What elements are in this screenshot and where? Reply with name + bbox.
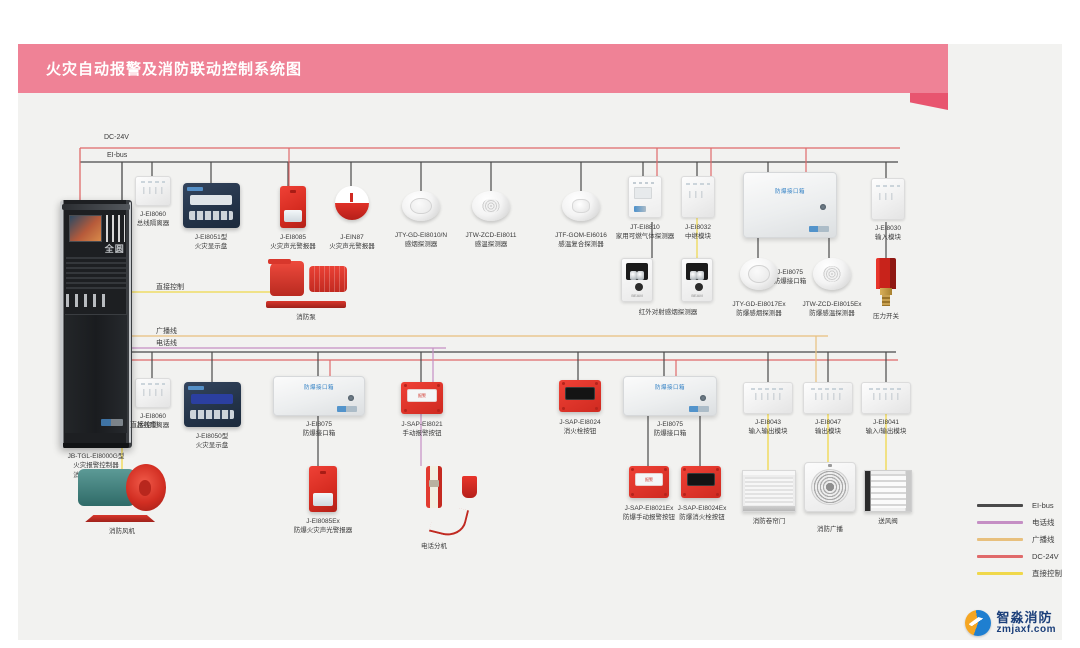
name-excab-left: 防爆接口箱 [272, 429, 366, 438]
model-iso-top: J-EI8060 [140, 211, 166, 218]
model-ein87: J-EIN87 [340, 234, 363, 241]
device-display-8051[interactable]: J-EI8051型 火灾显示盘 [182, 183, 240, 252]
device-ex-smoke-8017[interactable]: JTY-GD-EI8017Ex 防爆感烟探测器 [728, 258, 790, 319]
device-heat-8011[interactable]: JTW-ZCD-EI8011 感温探测器 [460, 191, 522, 250]
bus-isolator-icon [135, 378, 171, 408]
page-right-margin [1062, 0, 1080, 648]
fire-display-panel-icon [183, 183, 240, 228]
name-8041: 输入/输出模块 [860, 427, 912, 436]
model-8024: J-SAP-EI8024 [559, 419, 600, 426]
fire-pump-icon [263, 258, 349, 308]
page-title: 火灾自动报警及消防联动控制系统图 [46, 58, 302, 79]
name-telephone: 电话分机 [421, 543, 447, 550]
beam-detector-icon: BEAM [621, 258, 653, 302]
caption-beam-pair: 红外对射感烟探测器 [618, 308, 718, 317]
sounder-strobe-icon [280, 186, 306, 228]
device-hydrant-8024[interactable] [558, 380, 602, 412]
ex-heat-detector-icon [813, 258, 851, 290]
device-smoke-8010[interactable]: JTY-GD-EI8010/N 感烟探测器 [390, 191, 452, 250]
device-ex-mcp-8021[interactable]: 报警 [628, 466, 670, 498]
model-6016: JTF-GOM-EI6016 [555, 232, 607, 239]
label-ei-bus: EI-bus [104, 152, 130, 159]
damper-icon [864, 470, 912, 512]
name-8051: 火灾显示盘 [182, 242, 240, 251]
device-mcp-8021[interactable]: 报警 [400, 382, 444, 414]
cabinet-model: JB-TGL-EI8000G型 [68, 453, 125, 460]
legend-swatch-telephone [977, 521, 1023, 524]
name-8043: 输入输出模块 [742, 427, 794, 436]
legend-row: 电话线 [977, 514, 1062, 531]
device-beam-transmitter[interactable]: BEAM [620, 258, 654, 302]
caption-mcp-8021: J-SAP-EI8021 手动报警按钮 [386, 420, 458, 439]
device-input-8030[interactable]: J-EI8030 输入模块 [862, 178, 914, 243]
ex-hydrant-button-icon [681, 466, 721, 498]
name-8050: 火灾显示盘 [183, 441, 241, 450]
input-module-icon [871, 178, 905, 220]
model-8015: JTW-ZCD-EI8015Ex [802, 301, 861, 308]
name-8085ex: 防爆火灾声光警报器 [288, 526, 358, 535]
name-8030: 输入模块 [862, 233, 914, 242]
relay-module-icon [681, 176, 715, 218]
cabinet-right-rail [129, 202, 132, 443]
device-telephone-extension[interactable]: 电话分机 [404, 466, 464, 551]
device-sounder-8085[interactable]: J-EI8085 火灾声光警报器 [265, 186, 321, 252]
ex-smoke-detector-icon [740, 258, 778, 290]
legend-swatch-ei-bus [977, 504, 1023, 507]
model-8024ex: J-SAP-EI8024Ex [678, 505, 727, 512]
label-direct-control-bottom: 直接控制 [130, 420, 158, 430]
manual-call-point-icon: 报警 [401, 382, 443, 414]
model-iso-bottom: J-EI8060 [140, 413, 166, 420]
device-io-8043[interactable]: J-EI8043 输入输出模块 [742, 382, 794, 437]
device-sounder-ein87[interactable]: J-EIN87 火灾声光警报器 [324, 186, 380, 252]
device-ex-cabinet-right[interactable]: 防爆接口箱 J-EI8075 防爆接口箱 [622, 376, 718, 439]
legend-row: EI-bus [977, 497, 1062, 514]
cabinet-body: 全圆 [60, 200, 132, 448]
device-ex-heat-8015[interactable]: JTW-ZCD-EI8015Ex 防爆感温探测器 [800, 258, 864, 319]
device-combo-6016[interactable]: JTF-GOM-EI6016 感温复合探测器 [548, 191, 614, 250]
model-8011: JTW-ZCD-EI8011 [465, 232, 516, 239]
page-bottom-margin [0, 640, 1080, 648]
legend-swatch-direct [977, 572, 1023, 575]
model-8810: JT-EI8810 [630, 224, 660, 231]
device-ex-cabinet-left[interactable]: 防爆接口箱 J-EI8075 防爆接口箱 [272, 376, 366, 439]
hydrant-button-icon [559, 380, 601, 412]
watermark-domain: zmjaxf.com [997, 625, 1056, 636]
cabinet-display-screen [69, 215, 102, 242]
fire-fan-icon [76, 462, 168, 522]
device-fire-pump[interactable]: 消防泵 [258, 258, 354, 322]
model-8047: J-EI8047 [815, 419, 841, 426]
legend-label-telephone: 电话线 [1032, 517, 1055, 528]
name-beam: 红外对射感烟探测器 [639, 309, 698, 316]
legend: EI-bus 电话线 广播线 DC-24V 直接控制 [977, 497, 1062, 582]
explosion-proof-cabinet-icon: 防爆接口箱 [743, 172, 837, 238]
combination-detector-icon [562, 191, 600, 221]
device-air-damper[interactable]: 送风阀 [862, 470, 914, 526]
cabinet-brand-text: 全圆 [105, 242, 125, 255]
model-8043: J-EI8043 [755, 419, 781, 426]
device-fire-fan[interactable]: 消防风机 [74, 462, 170, 536]
name-6016: 感温复合探测器 [548, 240, 614, 249]
legend-label-ei-bus: EI-bus [1032, 501, 1054, 510]
legend-row: 直接控制 [977, 565, 1062, 582]
name-ein87: 火灾声光警报器 [324, 242, 380, 251]
name-8085: 火灾声光警报器 [265, 242, 321, 251]
model-8030: J-EI8030 [875, 225, 901, 232]
name-8024: 消火栓按钮 [544, 427, 616, 436]
explosion-proof-cabinet-icon: 防爆接口箱 [623, 376, 717, 416]
cabinet-led-indicators [106, 215, 125, 242]
device-ex-sounder-8085[interactable]: J-EI8085Ex 防爆火灾声光警报器 [288, 466, 358, 536]
label-broadcast-line: 广播线 [156, 326, 177, 336]
name-8015: 防爆感温探测器 [800, 309, 864, 318]
label-telephone-line: 电话线 [156, 338, 177, 348]
model-excab-right: J-EI8075 [657, 421, 683, 428]
model-8051: J-EI8051型 [195, 234, 228, 241]
cabinet-top-trim [62, 204, 130, 210]
output-module-icon [803, 382, 853, 414]
speaker-icon [804, 462, 856, 512]
label-direct-control-top: 直接控制 [156, 282, 184, 292]
name-8047: 输出模块 [802, 427, 854, 436]
cabinet-base [63, 443, 129, 448]
name-broadcast: 消防广播 [817, 526, 843, 533]
io-module-icon [743, 382, 793, 414]
smoke-detector-icon [402, 191, 440, 221]
watermark: 智淼消防 zmjaxf.com [965, 610, 1056, 636]
name-8810: 家用可燃气体探测器 [612, 232, 678, 241]
device-pressure-switch[interactable]: 压力开关 [862, 258, 910, 321]
fire-display-panel-icon [184, 382, 241, 427]
bus-isolator-icon [135, 176, 171, 206]
device-gas-8810[interactable]: JT-EI8810 家用可燃气体探测器 [612, 176, 678, 242]
page-left-margin [0, 0, 18, 648]
name-shutter: 消防卷帘门 [753, 518, 786, 525]
header-banner: 火灾自动报警及消防联动控制系统图 [18, 44, 948, 93]
name-damper: 送风阀 [878, 518, 898, 525]
watermark-text: 智淼消防 zmjaxf.com [997, 611, 1056, 635]
diagram-page: 火灾自动报警及消防联动控制系统图 [0, 0, 1080, 648]
legend-label-broadcast: 广播线 [1032, 534, 1055, 545]
device-fire-broadcast[interactable]: 消防广播 [802, 462, 858, 534]
io-module-icon [861, 382, 911, 414]
device-rolling-shutter[interactable]: 消防卷帘门 [740, 470, 798, 526]
name-8010: 感烟探测器 [390, 240, 452, 249]
model-excab-left: J-EI8075 [306, 421, 332, 428]
device-out-8047[interactable]: J-EI8047 输出模块 [802, 382, 854, 437]
cabinet-left-rail [61, 202, 64, 443]
device-relay-8032[interactable]: J-EI8032 中继模块 [672, 176, 724, 242]
explosion-proof-cabinet-icon: 防爆接口箱 [273, 376, 365, 416]
cabinet-zone-rows [66, 257, 125, 292]
banner-fold-decoration [910, 93, 948, 110]
name-8024ex: 防爆消火栓按钮 [664, 513, 740, 522]
legend-swatch-broadcast [977, 538, 1023, 541]
device-io-8041[interactable]: J-EI8041 输入/输出模块 [860, 382, 912, 437]
name-8011: 感温探测器 [460, 240, 522, 249]
name-excab-right: 防爆接口箱 [622, 429, 718, 438]
telephone-handset-icon [411, 466, 457, 538]
name-pressure: 压力开关 [873, 313, 899, 320]
cabinet-button-row[interactable] [66, 294, 110, 306]
name-iso-top: 总线隔离器 [124, 219, 182, 228]
heat-detector-icon [472, 191, 510, 221]
label-dc24v-top: DC-24V [104, 134, 129, 141]
model-8032: J-EI8032 [685, 224, 711, 231]
caption-ex-hydrant: J-SAP-EI8024Ex 防爆消火栓按钮 [664, 504, 740, 523]
name-fan: 消防风机 [109, 528, 135, 535]
dome-sounder-icon [335, 186, 369, 220]
legend-swatch-dc24v [977, 555, 1023, 558]
device-ex-hydrant-8024[interactable] [680, 466, 722, 498]
caption-hydrant-8024: J-SAP-EI8024 消火栓按钮 [544, 418, 616, 437]
model-8085ex: J-EI8085Ex [306, 518, 340, 525]
fire-alarm-control-cabinet[interactable]: 全圆 [60, 200, 132, 448]
name-pump: 消防泵 [296, 314, 316, 321]
watermark-company-name: 智淼消防 [997, 611, 1056, 625]
legend-label-direct: 直接控制 [1032, 568, 1062, 579]
gas-detector-icon [628, 176, 662, 218]
model-8085: J-EI8085 [280, 234, 306, 241]
model-8010: JTY-GD-EI8010/N [395, 232, 447, 239]
cabinet-logo-badge [101, 419, 123, 426]
page-top-margin [0, 0, 1080, 44]
name-8032: 中继模块 [672, 232, 724, 241]
model-8050: J-EI8050型 [196, 433, 229, 440]
ex-sounder-strobe-icon [309, 466, 337, 512]
brand-logo-icon [965, 610, 991, 636]
device-beam-receiver[interactable]: BEAM [680, 258, 714, 302]
legend-label-dc24v: DC-24V [1032, 552, 1059, 561]
ex-manual-call-point-icon: 报警 [629, 466, 669, 498]
model-8021: J-SAP-EI8021 [401, 421, 442, 428]
name-8017: 防爆感烟探测器 [728, 309, 790, 318]
rolling-shutter-icon [742, 470, 796, 512]
name-8021: 手动报警按钮 [386, 429, 458, 438]
cabinet-lower-door [65, 314, 127, 433]
device-bus-isolator-top[interactable]: J-EI8060 总线隔离器 [124, 176, 182, 229]
model-8041: J-EI8041 [873, 419, 899, 426]
legend-row: 广播线 [977, 531, 1062, 548]
device-display-8050[interactable]: J-EI8050型 火灾显示盘 [183, 382, 241, 451]
model-8017: JTY-GD-EI8017Ex [732, 301, 785, 308]
legend-row: DC-24V [977, 548, 1062, 565]
beam-detector-icon: BEAM [681, 258, 713, 302]
pressure-switch-icon [872, 258, 900, 306]
